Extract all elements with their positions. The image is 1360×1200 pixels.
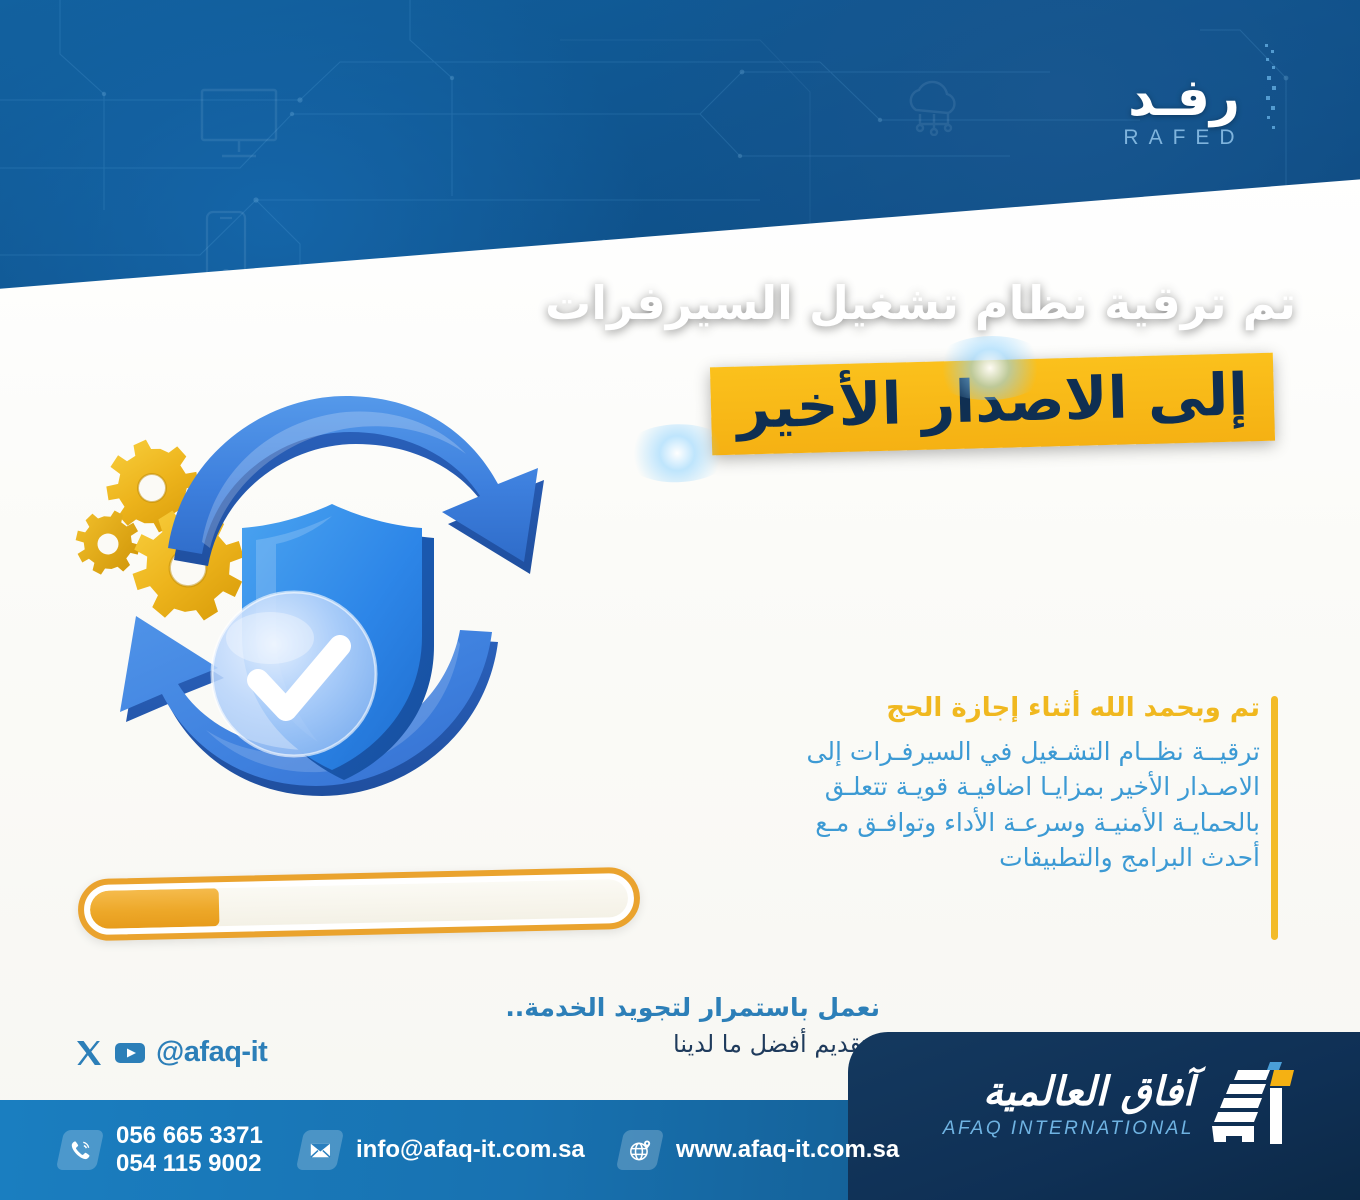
afaq-wordmark: آفاق العالمية AFAQ INTERNATIONAL [943, 1072, 1194, 1140]
body-text-block: تم وبحمد الله أثناء إجازة الحج ترقيــة ن… [640, 692, 1260, 876]
headline-line-1: تم ترقية نظام تشغيل السيرفرات [545, 276, 1296, 330]
contact-website[interactable]: www.afaq-it.com.sa [620, 1130, 899, 1170]
tagline-block: نعمل باستمرار لتجويد الخدمة.. وتقديم أفض… [505, 992, 880, 1060]
phone-numbers: 056 665 3371 054 115 9002 [116, 1122, 263, 1178]
afaq-arabic-wordmark: آفاق العالمية [943, 1072, 1194, 1112]
contact-phone[interactable]: 056 665 3371 054 115 9002 [60, 1122, 263, 1178]
cloud-icon [900, 78, 968, 136]
afaq-logo: آفاق العالمية AFAQ INTERNATIONAL [943, 1062, 1300, 1150]
body-line: أحدث البرامج والتطبيقات [640, 840, 1260, 876]
rafed-logo: رفـد RAFED [1084, 72, 1284, 150]
headline-line-2: إلى الاصدار الأخير [736, 363, 1249, 440]
phone-number-1: 056 665 3371 [116, 1122, 263, 1149]
progress-bar [77, 867, 640, 942]
tagline-line-1: نعمل باستمرار لتجويد الخدمة.. [505, 992, 880, 1025]
progress-fill [90, 888, 220, 929]
rafed-arabic-wordmark: رفـد [1084, 72, 1284, 124]
update-illustration [56, 392, 616, 812]
progress-track [90, 879, 629, 929]
headline-highlight-wrapper: إلى الاصدار الأخير [710, 353, 1275, 456]
envelope-icon [296, 1130, 345, 1170]
phone-number-2: 054 115 9002 [116, 1150, 263, 1178]
website-url: www.afaq-it.com.sa [676, 1136, 899, 1164]
body-title: تم وبحمد الله أثناء إجازة الحج [640, 692, 1260, 726]
poster-canvas: رفـد RAFED تم ترقية نظام تشغيل السيرفرات… [0, 0, 1360, 1200]
social-row: @afaq-it [74, 1036, 267, 1069]
headline-highlight-box: إلى الاصدار الأخير [710, 353, 1275, 456]
body-line: ترقيــة نظــام التشـغيل في السيرفـرات إل… [640, 734, 1260, 770]
body-line: بالحمايـة الأمنيـة وسرعـة الأداء وتوافـق… [640, 805, 1260, 841]
contact-email[interactable]: info@afaq-it.com.sa [300, 1130, 585, 1170]
check-badge-icon [212, 592, 376, 756]
body-divider [1271, 696, 1278, 940]
body-line: الاصـدار الأخير بمزايـا اضافيـة قويـة تت… [640, 769, 1260, 805]
globe-pin-icon [616, 1130, 665, 1170]
phone-call-icon [56, 1130, 105, 1170]
rafed-dots-decoration [1264, 44, 1278, 140]
afaq-logo-mark [1208, 1062, 1300, 1150]
social-handle[interactable]: @afaq-it [156, 1036, 267, 1069]
x-twitter-icon[interactable] [74, 1038, 104, 1068]
youtube-icon[interactable] [115, 1038, 145, 1068]
tagline-line-2: وتقديم أفضل ما لدينا [505, 1029, 880, 1060]
email-address: info@afaq-it.com.sa [356, 1136, 585, 1164]
afaq-latin-wordmark: AFAQ INTERNATIONAL [943, 1118, 1194, 1140]
monitor-icon [200, 88, 278, 162]
rafed-latin-wordmark: RAFED [1084, 126, 1284, 150]
